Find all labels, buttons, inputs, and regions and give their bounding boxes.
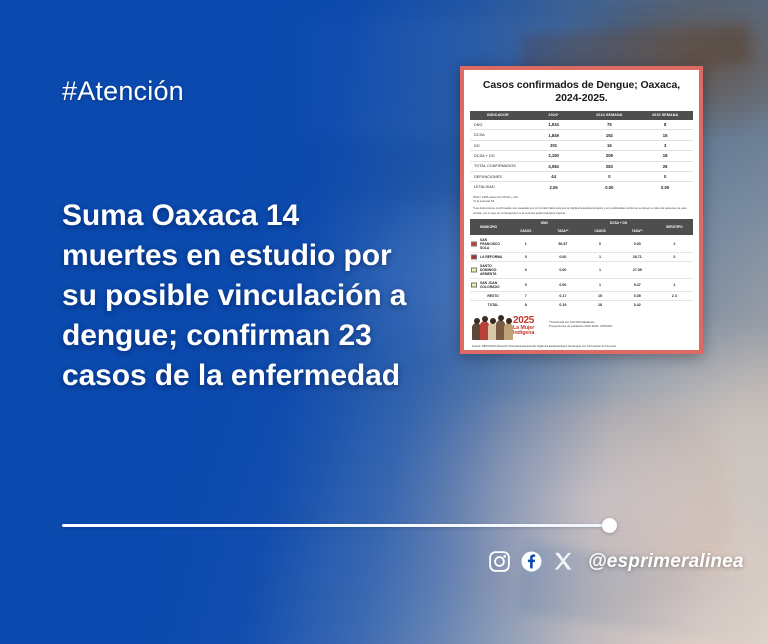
cell-value: 2: [656, 252, 693, 261]
mujer-indigena-logo: 2025 La Mujer Indígena: [472, 315, 544, 341]
col-municipio: MUNICIPIO: [470, 219, 507, 235]
facebook-icon[interactable]: [520, 550, 543, 573]
cell-value: 27.09: [619, 261, 656, 278]
municipios-table: MUNICIPIO DNG DCSA + DG SEROTIPO CASOS T…: [470, 219, 693, 309]
cell-value: 2 3: [656, 292, 693, 301]
cell-value: 15: [581, 292, 618, 301]
cell-value: 75: [582, 120, 638, 130]
cell-value: 2: [656, 279, 693, 292]
municipio-label: RESTO: [487, 294, 498, 298]
table-row: DCSA 1,849 192 15: [470, 130, 693, 140]
cell-value: 18: [581, 301, 618, 310]
row-label: DEFUNCIONES: [470, 171, 526, 181]
cell-value: 28.71: [619, 252, 656, 261]
table-row: TOTAL CONFIRMADOS 4,084 283 26: [470, 161, 693, 171]
table-row: DCSA + DG 2,150 208 18: [470, 151, 693, 161]
cell-value: 2: [656, 235, 693, 252]
cell-value: 3: [637, 140, 693, 150]
content-layer: #Atención Suma Oaxaca 14 muertes en estu…: [0, 0, 768, 644]
cell-value: 0: [507, 279, 544, 292]
cell-value: 44: [526, 171, 582, 181]
logo-line-2: Indígena: [513, 330, 534, 336]
cell-value: 0.00: [582, 182, 638, 192]
footnote-line-1: **Incidencia por 100 000 habitantes: [549, 320, 595, 324]
cell-value: 1,934: [526, 120, 582, 130]
table-notes: DNG= 1995 casos dto DCSA + DG. *A la sem…: [473, 195, 691, 215]
cell-value: 0.00: [544, 261, 581, 278]
table-row: DNG 1,934 75 8: [470, 120, 693, 130]
x-twitter-icon[interactable]: [552, 550, 575, 573]
cell-value: 0: [582, 171, 638, 181]
row-label: DG: [470, 140, 526, 150]
card-footer: 2025 La Mujer Indígena **Incidencia por …: [470, 315, 693, 341]
row-label: DNG: [470, 120, 526, 130]
social-media-news-card: #Atención Suma Oaxaca 14 muertes en estu…: [0, 0, 768, 644]
municipio-cell: SANTO DOMINGO ARMENTA: [470, 261, 507, 278]
table-row: SAN FRANCISCO SOLA 1 56.87 0 0.00 2: [470, 235, 693, 252]
kicker-hashtag: #Atención: [62, 76, 184, 107]
note-line-3: *Las defunciones confirmadas son avalada…: [473, 206, 691, 215]
municipio-cell: RESTO: [470, 292, 507, 301]
cell-value: 283: [582, 161, 638, 171]
note-line-2: *A la semana 53: [473, 199, 494, 203]
group-dcsa-dg: DCSA + DG: [581, 219, 655, 227]
cell-value: 9.47: [619, 279, 656, 292]
cell-value: 15: [637, 130, 693, 140]
table-row: LA REFORMA 0 0.00 1 28.71 2: [470, 252, 693, 261]
cell-value: [656, 301, 693, 310]
color-swatch: [471, 241, 477, 246]
card-title: Casos confirmados de Dengue; Oaxaca, 202…: [474, 79, 689, 105]
cell-value: [656, 261, 693, 278]
municipio-cell: SAN FRANCISCO SOLA: [470, 235, 507, 252]
cell-value: 8: [637, 120, 693, 130]
card-footnote: **Incidencia por 100 000 habitantes Proy…: [549, 315, 613, 329]
footnote-line-2: Proyecciones de población 2016-2030. CON…: [549, 324, 613, 328]
col-2025-semana: 2025 SEMANA: [637, 111, 693, 120]
logo-figure: [504, 323, 513, 340]
col-2024-semana: 2024 SEMANA: [582, 111, 638, 120]
cell-value: 18: [637, 151, 693, 161]
social-handle[interactable]: @esprimeralinea: [588, 551, 744, 573]
cell-value: 1: [581, 261, 618, 278]
cell-value: 26: [637, 161, 693, 171]
table-row: LETALIDAD 2.05 0.00 0.00: [470, 182, 693, 192]
divider-dot: [602, 518, 617, 533]
table-row: DG 301 16 3: [470, 140, 693, 150]
indicadores-table: INDICADOR 2024* 2024 SEMANA 2025 SEMANA …: [470, 111, 693, 192]
cell-value: 16: [582, 140, 638, 150]
table-row: TOTAL 8 0.19 18 0.42: [470, 301, 693, 310]
cell-value: 1: [507, 235, 544, 252]
cell-value: 0: [507, 261, 544, 278]
cell-value: 301: [526, 140, 582, 150]
cell-value: 1: [581, 252, 618, 261]
row-label: DCSA + DG: [470, 151, 526, 161]
municipio-cell: TOTAL: [470, 301, 507, 310]
cell-value: 0.35: [619, 292, 656, 301]
cell-value: 192: [582, 130, 638, 140]
cell-value: 0: [581, 235, 618, 252]
row-label: DCSA: [470, 130, 526, 140]
page-title: Suma Oaxaca 14 muertes en estudio por su…: [62, 196, 407, 395]
col-dcsa-tasa: TASA**: [619, 227, 656, 235]
col-serotipo: SEROTIPO: [656, 219, 693, 235]
municipio-cell: SAN JUAN COLORADO: [470, 279, 507, 292]
col-indicador: INDICADOR: [470, 111, 526, 120]
cell-value: 0.00: [544, 252, 581, 261]
divider-line: [62, 524, 610, 527]
cell-value: 0.00: [544, 279, 581, 292]
col-dng-tasa: TASA**: [544, 227, 581, 235]
municipio-label: SANTO DOMINGO ARMENTA: [480, 264, 497, 276]
cell-value: 0.17: [544, 292, 581, 301]
logo-figures: [472, 316, 512, 340]
social-bar: @esprimeralinea: [488, 550, 744, 573]
cell-value: 0.42: [619, 301, 656, 310]
cell-value: 7: [507, 292, 544, 301]
cell-value: 2.05: [526, 182, 582, 192]
municipio-label: TOTAL: [488, 303, 499, 307]
municipio-label: SAN JUAN COLORADO: [480, 281, 500, 289]
cell-value: 4,084: [526, 161, 582, 171]
color-swatch: [471, 283, 477, 288]
table-group-header-row: MUNICIPIO DNG DCSA + DG SEROTIPO: [470, 219, 693, 227]
cell-value: 0: [637, 171, 693, 181]
municipio-cell: LA REFORMA: [470, 252, 507, 261]
table-row: RESTO 7 0.17 15 0.35 2 3: [470, 292, 693, 301]
table-header-row: INDICADOR 2024* 2024 SEMANA 2025 SEMANA: [470, 111, 693, 120]
logo-caption: La Mujer Indígena: [513, 326, 534, 338]
row-label: TOTAL CONFIRMADOS: [470, 161, 526, 171]
col-dcsa-casos: CASOS: [581, 227, 618, 235]
dengue-table-card: Casos confirmados de Dengue; Oaxaca, 202…: [460, 66, 703, 354]
table-row: SAN JUAN COLORADO 0 0.00 1 9.47 2: [470, 279, 693, 292]
cell-value: 0.00: [637, 182, 693, 192]
cell-value: 1: [581, 279, 618, 292]
cell-value: 1,849: [526, 130, 582, 140]
table-row: SANTO DOMINGO ARMENTA 0 0.00 1 27.09: [470, 261, 693, 278]
cell-value: 0.19: [544, 301, 581, 310]
card-source: Fuente: DIRVS/SSO Dirección Normativa Es…: [470, 345, 693, 349]
municipio-label: SAN FRANCISCO SOLA: [480, 238, 500, 250]
instagram-icon[interactable]: [488, 550, 511, 573]
col-dng-casos: CASOS: [507, 227, 544, 235]
cell-value: 0.00: [619, 235, 656, 252]
row-label: LETALIDAD: [470, 182, 526, 192]
col-2024: 2024*: [526, 111, 582, 120]
table-row: DEFUNCIONES 44 0 0: [470, 171, 693, 181]
cell-value: 2,150: [526, 151, 582, 161]
color-swatch: [471, 254, 477, 259]
divider: [62, 518, 622, 532]
color-swatch: [471, 267, 477, 272]
municipio-label: LA REFORMA: [480, 255, 502, 259]
cell-value: 56.87: [544, 235, 581, 252]
group-dng: DNG: [507, 219, 581, 227]
cell-value: 208: [582, 151, 638, 161]
cell-value: 0: [507, 252, 544, 261]
cell-value: 8: [507, 301, 544, 310]
